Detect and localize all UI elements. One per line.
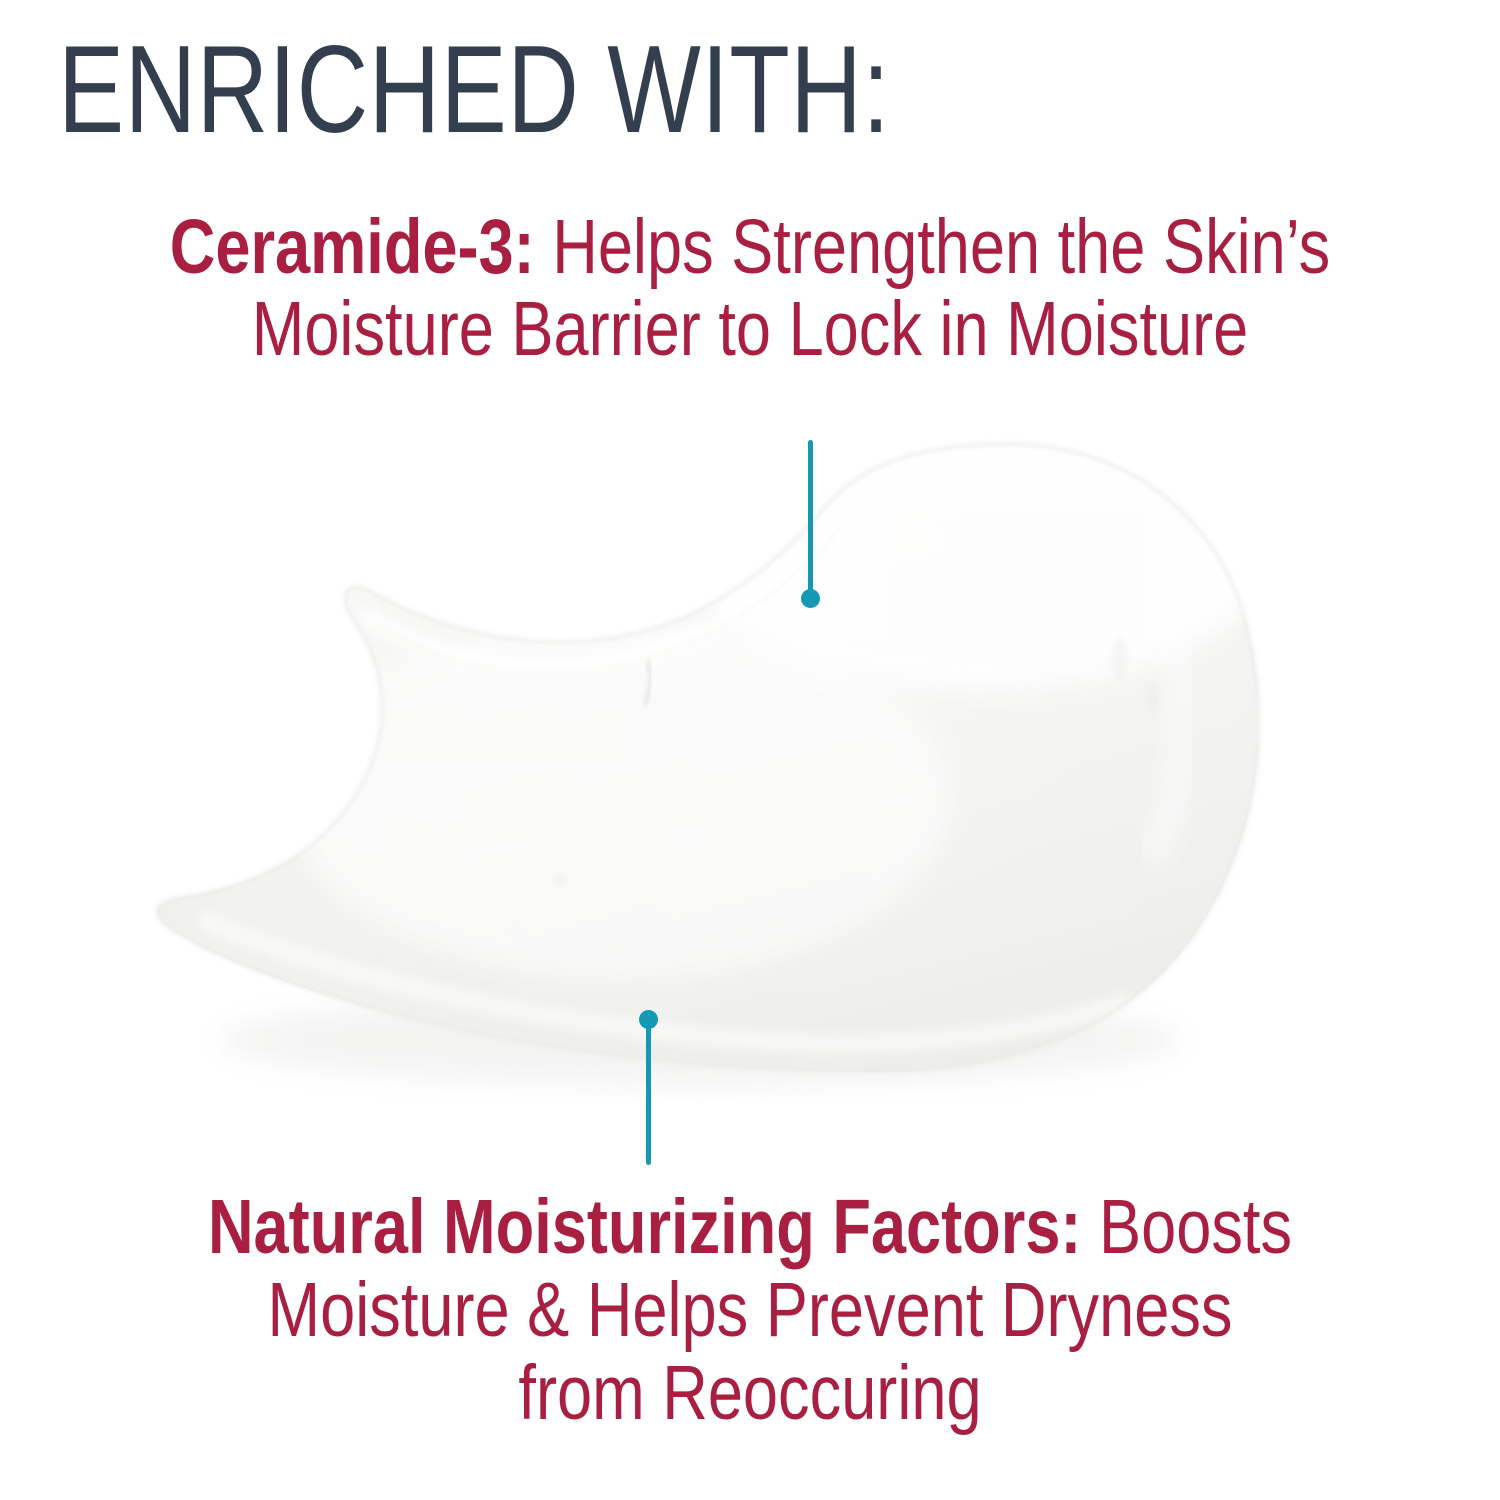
callout-ceramide: Ceramide-3: Helps Strengthen the Skin’s … xyxy=(0,206,1500,370)
infographic-page: ENRICHED WITH: Ceramide-3: Helps Strengt… xyxy=(0,0,1500,1500)
callout-nmf-line-1: Natural Moisturizing Factors: Boosts xyxy=(135,1186,1365,1269)
page-title: ENRICHED WITH: xyxy=(58,28,890,152)
pointer-nmf-dot xyxy=(639,1010,658,1029)
pointer-ceramide-dot xyxy=(801,589,820,608)
pointer-ceramide-line xyxy=(808,440,813,598)
callout-nmf-line-3: from Reoccuring xyxy=(135,1352,1365,1435)
swatch-shadow xyxy=(220,994,1180,1086)
callout-ceramide-benefit-line-1: Helps Strengthen the Skin’s xyxy=(535,204,1331,290)
callout-natural-moisturizing-factors: Natural Moisturizing Factors: Boosts Moi… xyxy=(0,1186,1500,1435)
callout-nmf-line-2: Moisture & Helps Prevent Dryness xyxy=(135,1269,1365,1352)
pointer-nmf-line xyxy=(646,1019,651,1165)
callout-ceramide-line-2: Moisture Barrier to Lock in Moisture xyxy=(135,288,1365,370)
callout-ceramide-ingredient: Ceramide-3: xyxy=(170,204,535,290)
swatch-outline xyxy=(157,444,1259,1072)
callout-nmf-benefit-line-1: Boosts xyxy=(1081,1184,1292,1270)
callout-nmf-ingredient: Natural Moisturizing Factors: xyxy=(208,1184,1082,1270)
callout-ceramide-line-1: Ceramide-3: Helps Strengthen the Skin’s xyxy=(135,206,1365,288)
